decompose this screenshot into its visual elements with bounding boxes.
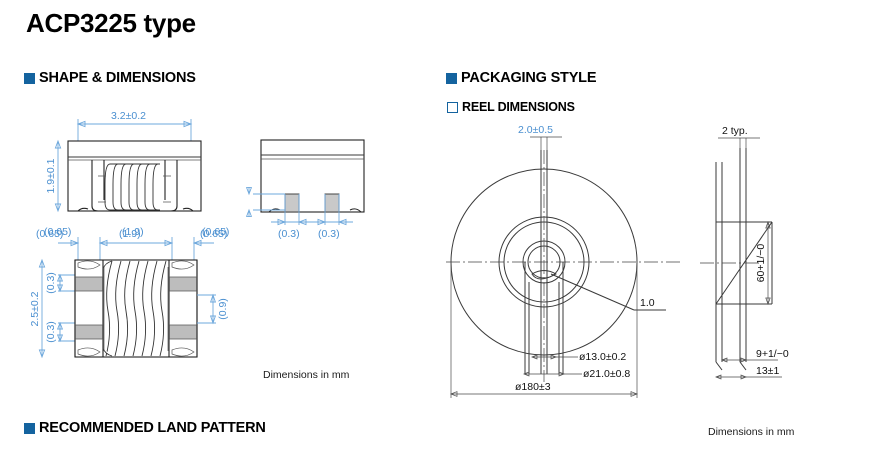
dimension-label-depth: 2.5±0.2 [29,291,41,326]
dimension-center-width-0-9: (0.9) [197,295,229,323]
blue-square-bullet-icon [446,73,457,84]
dimension-label-hub-width: 60+1/−0 [755,244,767,283]
dimension-label-leader-note: 1.0 [640,297,655,309]
section-heading-recommended-land-pattern: RECOMMENDED LAND PATTERN [24,420,266,436]
drawing-reel-front-view: 2.0±0.5 [452,122,682,402]
dimension-depth-2-5: 2.5±0.2 [29,260,45,357]
blue-square-bullet-icon [24,73,35,84]
component-top-body [75,260,197,357]
dimension-band-lower-0-3: (0.3) [45,321,78,343]
dimension-label-front-foot-left: (0.65) [36,228,63,240]
drawing-reel-side-view: 2 typ. 6 [700,122,880,392]
dimension-label-pad-left: (0.3) [278,228,300,240]
dimension-band-upper-0-3: (0.3) [45,272,78,294]
dimension-label-hub-outer: ø21.0±0.8 [583,368,630,380]
section-label-land: RECOMMENDED LAND PATTERN [39,420,266,436]
caption-dimensions-in-mm-left: Dimensions in mm [263,369,349,381]
dimension-label-reel-dia: ø180±3 [515,381,551,393]
dimension-label-front-foot-center: (1.9) [119,228,141,240]
drawing-front-view: 3.2±0.2 1.9±0.1 [20,110,250,230]
component-front-body [68,141,201,211]
dimension-overall-width: 13±1 [716,365,782,379]
section-label-packaging: PACKAGING STYLE [461,70,596,86]
section-heading-packaging-style: PACKAGING STYLE [446,70,596,86]
leader-note-1-0: 1.0 [551,274,666,310]
section-label-reel: REEL DIMENSIONS [462,100,575,114]
dimension-hub-outer-dia: ø21.0±0.8 [524,368,630,380]
drawing-top-view: (0.65) (1.9) (0.65) 2.5±0.2 (0 [20,225,260,370]
dimension-label-slot-width: 2.0±0.5 [518,124,553,136]
caption-dimensions-in-mm-right: Dimensions in mm [708,426,794,438]
section-heading-shape-dimensions: SHAPE & DIMENSIONS [24,70,196,86]
dimension-label-pad-right: (0.3) [318,228,340,240]
dimension-label-hub-inner: ø13.0±0.2 [579,351,626,363]
dimension-label-flange-thickness: 2 typ. [722,125,748,137]
section-label-shape: SHAPE & DIMENSIONS [39,70,196,86]
dimension-hub-width: 60+1/−0 [755,222,770,304]
page-title: ACP3225 type [26,8,196,39]
datasheet-page: ACP3225 type SHAPE & DIMENSIONS PACKAGIN… [0,0,889,459]
dimension-label-inner-width: 9+1/−0 [756,348,789,360]
dimension-flange-thickness: 2 typ. [718,125,760,150]
blue-outline-square-bullet-icon [447,102,458,113]
dimension-label-center-width: (0.9) [217,298,229,320]
dimension-label-height: 1.9±0.1 [45,158,57,193]
dimension-height-1-9: 1.9±0.1 [45,141,61,211]
dimension-label-width: 3.2±0.2 [111,110,146,122]
dimension-slot-width-2-0: 2.0±0.5 [518,124,562,150]
reel-outline [446,150,680,382]
dimension-label-overall-width: 13±1 [756,365,779,377]
component-side-body [261,140,364,212]
dimension-label-band-lower: (0.3) [45,321,57,343]
section-heading-reel-dimensions: REEL DIMENSIONS [447,100,575,114]
dimension-hub-inner-dia: ø13.0±0.2 [532,351,626,363]
dimension-inner-width: 9+1/−0 [722,348,789,362]
blue-square-bullet-icon [24,423,35,434]
terminal-pad-left [285,194,299,212]
terminal-pad-right [325,194,339,212]
dimension-label-front-foot-right: (0.65) [200,228,227,240]
dimension-label-band-upper: (0.3) [45,272,57,294]
drawing-side-view: (0.3) (0.3) [245,115,415,240]
